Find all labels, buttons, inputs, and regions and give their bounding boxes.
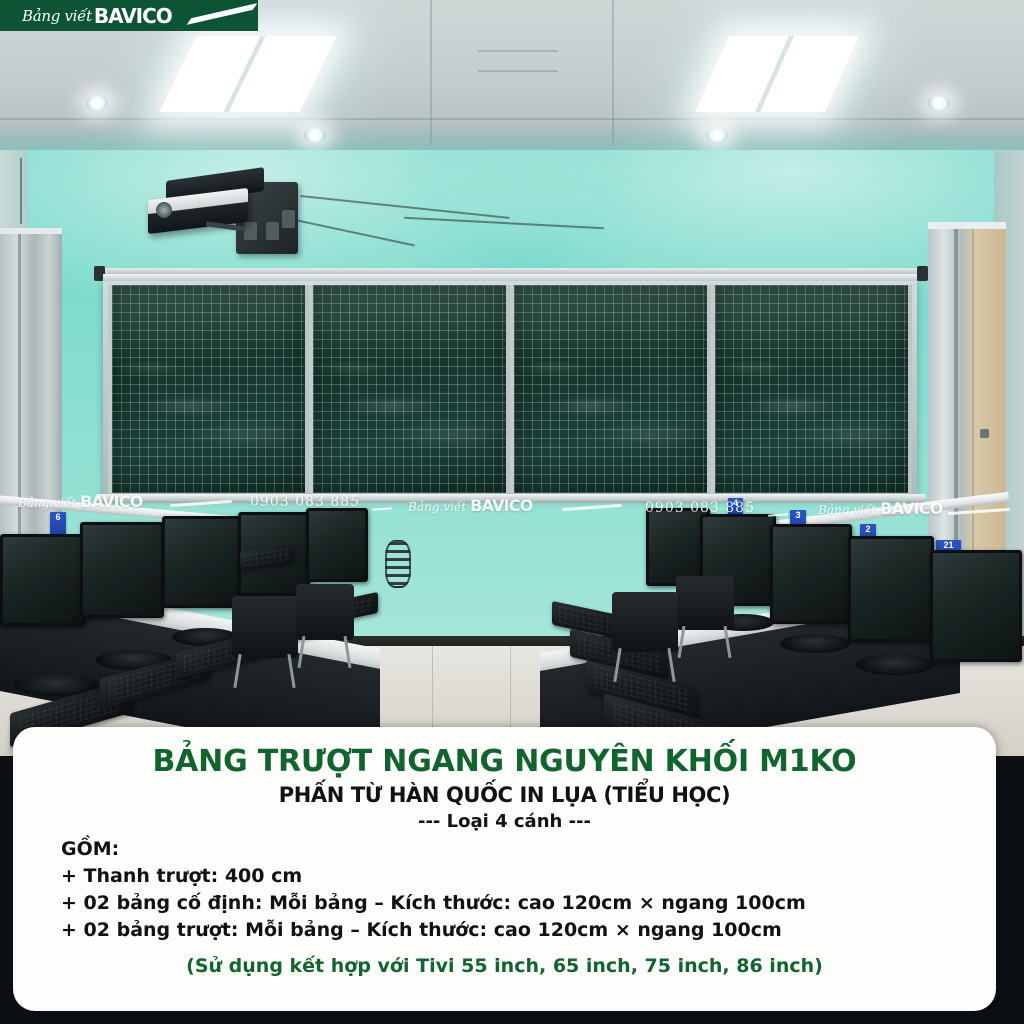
spec-line: + Thanh trượt: 400 cm bbox=[61, 865, 970, 887]
board-panel bbox=[309, 285, 510, 493]
product-subtitle: PHẤN TỪ HÀN QUỐC IN LỤA (TIỂU HỌC) bbox=[39, 783, 970, 807]
swoosh-icon bbox=[186, 3, 257, 25]
chair bbox=[612, 592, 678, 652]
board-panel bbox=[108, 285, 309, 493]
chair bbox=[232, 596, 298, 658]
compatibility-note: (Sử dụng kết hợp với Tivi 55 inch, 65 in… bbox=[39, 955, 970, 977]
chair bbox=[676, 576, 734, 630]
wall-mounted-projector bbox=[148, 168, 298, 260]
chair bbox=[296, 584, 354, 640]
product-promo-image: 6 5 bbox=[0, 0, 1024, 1024]
spec-line: + 02 bảng trượt: Mỗi bảng – Kích thước: … bbox=[61, 919, 970, 941]
board-panel bbox=[510, 285, 711, 493]
spec-line: + 02 bảng cố định: Mỗi bảng – Kích thước… bbox=[61, 892, 970, 914]
info-panel: BẢNG TRƯỢT NGANG NGUYÊN KHỐI M1KO PHẤN T… bbox=[13, 727, 996, 1011]
sliding-chalkboard bbox=[103, 280, 917, 498]
coiled-cable bbox=[385, 540, 411, 588]
logo-bold-text: BAVICO bbox=[94, 4, 172, 28]
ceiling-downlight bbox=[304, 128, 326, 142]
product-title: BẢNG TRƯỢT NGANG NGUYÊN KHỐI M1KO bbox=[39, 745, 970, 780]
brand-logo-banner: Bảng viết BAVICO bbox=[0, 0, 258, 31]
product-variant: --- Loại 4 cánh --- bbox=[39, 811, 970, 832]
ceiling-downlight bbox=[706, 128, 728, 142]
ceiling-downlight bbox=[86, 96, 108, 110]
ceiling-downlight bbox=[928, 96, 950, 110]
board-panel bbox=[711, 285, 912, 493]
logo-script-text: Bảng viết bbox=[22, 7, 92, 25]
spec-heading: GỒM: bbox=[61, 838, 970, 860]
